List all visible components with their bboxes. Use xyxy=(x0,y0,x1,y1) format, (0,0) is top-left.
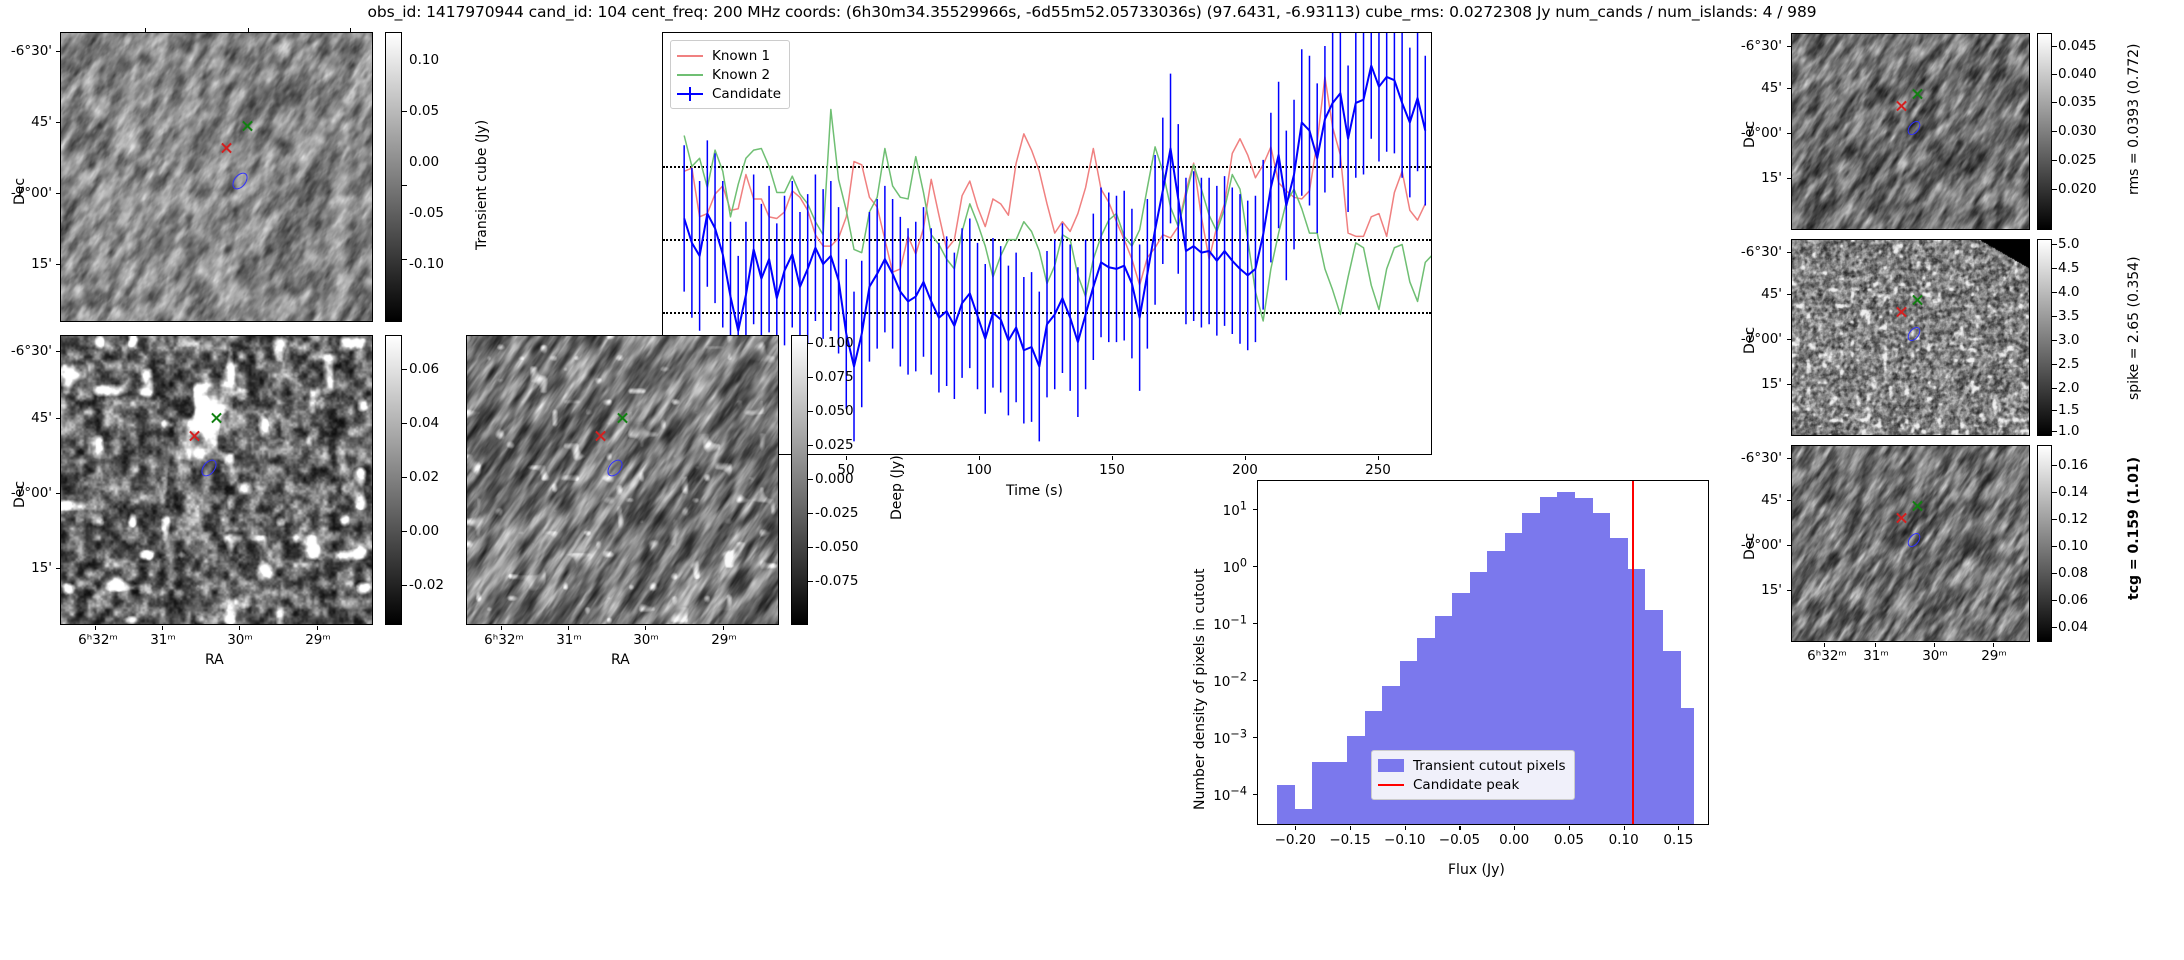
known1-marker xyxy=(221,142,234,155)
transient-cube-colorbar-label: Transient cube (Jy) xyxy=(474,120,490,250)
ra-axis-label: RA xyxy=(205,652,224,668)
cbar-tick-label: 0.08 xyxy=(2058,565,2088,581)
hist-y-tick-label: 101 xyxy=(1195,499,1247,519)
ra-tick-label: 30ᵐ xyxy=(1922,648,1948,664)
legend-row-known1: Known 1 xyxy=(677,46,781,65)
cbar-tick-label: 3.5 xyxy=(2058,308,2079,324)
cbar-tick-label: 0.14 xyxy=(2058,484,2088,500)
time-axis-label: Time (s) xyxy=(1006,483,1063,499)
ra-tick-label: 31ᵐ xyxy=(556,632,582,648)
transient-cube-colorbar xyxy=(385,32,402,322)
flux-tick-label: 0.10 xyxy=(1609,832,1639,848)
dec-axis-label: Dec xyxy=(1742,533,1758,560)
tcg-image-panel[interactable] xyxy=(1791,445,2030,642)
rms-colorbar xyxy=(2037,33,2052,230)
rms-image-panel[interactable] xyxy=(1791,33,2030,230)
rms-colorbar-label: rms = 0.0393 (0.772) xyxy=(2126,43,2142,195)
cbar-tick-label: 0.050 xyxy=(815,403,854,419)
ra-tick-label: 6ʰ32ᵐ xyxy=(484,632,524,648)
known1-marker xyxy=(189,430,202,443)
histogram-bar xyxy=(1627,569,1645,824)
cbar-tick-label: 0.045 xyxy=(2058,38,2097,54)
histogram-legend[interactable]: Transient cutout pixels Candidate peak xyxy=(1371,750,1575,800)
deep-colorbar xyxy=(791,335,808,625)
known2-marker xyxy=(242,120,255,133)
cbar-tick-label: 0.00 xyxy=(409,523,439,539)
cbar-tick-label: -0.025 xyxy=(815,505,859,521)
candidate-peak-swatch xyxy=(1378,784,1404,786)
flux-tick xyxy=(1514,826,1515,831)
known1-marker xyxy=(1896,100,1909,113)
cbar-tick-label: 0.100 xyxy=(815,335,854,351)
dec-tick-label: 15' xyxy=(1728,376,1782,392)
ra-tick-label: 31ᵐ xyxy=(1863,648,1889,664)
tcg-colorbar-label: tcg = 0.159 (1.01) xyxy=(2126,457,2142,600)
cbar-tick-label: 0.075 xyxy=(815,369,854,385)
deep-image-panel[interactable] xyxy=(466,335,779,625)
cbar-tick-label: 0.16 xyxy=(2058,457,2088,473)
cbar-tick-label: 4.0 xyxy=(2058,284,2079,300)
lightcurve-legend[interactable]: Known 1 Known 2 Candidate xyxy=(670,40,790,109)
dec-tick-label: 45' xyxy=(1728,80,1782,96)
dec-tick-label: 15' xyxy=(1728,582,1782,598)
ra-tick-label: 29ᵐ xyxy=(1981,648,2007,664)
cbar-tick-label: 0.000 xyxy=(815,471,854,487)
ra-tick-label: 6ʰ32ᵐ xyxy=(78,632,118,648)
cbar-tick-label: 4.5 xyxy=(2058,260,2079,276)
cbar-tick-label: 0.05 xyxy=(409,103,439,119)
cbar-tick-label: 0.04 xyxy=(2058,619,2088,635)
histogram-bar xyxy=(1662,651,1680,824)
legend-row-known2: Known 2 xyxy=(677,65,781,84)
cbar-tick-label: 0.12 xyxy=(2058,511,2088,527)
deep-colorbar-label: Deep (Jy) xyxy=(889,455,905,520)
flux-tick-label: 0.15 xyxy=(1663,832,1693,848)
flux-tick xyxy=(1405,826,1406,831)
known2-marker xyxy=(1912,500,1925,513)
known2-marker xyxy=(1912,88,1925,101)
dec-axis-label: Dec xyxy=(12,178,28,205)
histogram-bar xyxy=(1277,785,1295,824)
deep-sky-image xyxy=(467,336,779,625)
histogram-bar xyxy=(1330,762,1348,824)
legend-label-candidate-peak: Candidate peak xyxy=(1413,777,1519,793)
ra-tick-label: 30ᵐ xyxy=(633,632,659,648)
legend-row-candidate: Candidate xyxy=(677,84,781,103)
cbar-tick-label: 0.025 xyxy=(2058,152,2097,168)
tcg-colorbar xyxy=(2037,445,2052,642)
cbar-tick-label: 0.04 xyxy=(409,415,439,431)
spike-image-panel[interactable] xyxy=(1791,239,2030,436)
cbar-tick-label: 0.025 xyxy=(815,437,854,453)
dec-tick-label: 15' xyxy=(1728,170,1782,186)
cbar-tick-label: 1.0 xyxy=(2058,423,2079,439)
flux-tick-label: −0.05 xyxy=(1439,832,1480,848)
dec-tick-label: -6°30' xyxy=(0,343,52,359)
gleam-image-panel[interactable] xyxy=(60,335,373,625)
cbar-tick-label: -0.075 xyxy=(815,573,859,589)
cbar-tick-label: 0.035 xyxy=(2058,94,2097,110)
cutout-pixels-swatch xyxy=(1378,759,1404,772)
legend-label-cutout-pixels: Transient cutout pixels xyxy=(1413,758,1566,774)
cbar-tick-label: 0.06 xyxy=(409,361,439,377)
flux-tick-label: −0.20 xyxy=(1275,832,1316,848)
transient-cube-sky-image xyxy=(61,33,373,322)
known1-marker xyxy=(1896,306,1909,319)
flux-tick xyxy=(1459,826,1460,831)
legend-label-known1: Known 1 xyxy=(712,48,770,64)
flux-tick-label: −0.15 xyxy=(1329,832,1370,848)
cbar-tick-label: 0.040 xyxy=(2058,66,2097,82)
dec-tick-label: 15' xyxy=(0,560,52,576)
flux-tick-label: 0.00 xyxy=(1499,832,1529,848)
flux-tick xyxy=(1624,826,1625,831)
spike-colorbar-label: spike = 2.65 (0.354) xyxy=(2126,256,2142,400)
hist-y-axis-label: Number density of pixels in cutout xyxy=(1192,569,1208,811)
transient-cube-image-panel[interactable] xyxy=(60,32,373,322)
legend-label-candidate: Candidate xyxy=(712,86,781,102)
dec-tick-label: 45' xyxy=(0,410,52,426)
flux-tick xyxy=(1295,826,1296,831)
cbar-tick-label: 3.0 xyxy=(2058,332,2079,348)
cbar-tick-label: 5.0 xyxy=(2058,236,2079,252)
histogram-bar xyxy=(1347,736,1365,824)
cbar-tick-label: 2.5 xyxy=(2058,356,2079,372)
histogram-bar xyxy=(1645,610,1663,824)
histogram-bar xyxy=(1680,708,1694,824)
known1-marker xyxy=(1896,512,1909,525)
dec-tick-label: -6°30' xyxy=(1728,38,1782,54)
dec-axis-label: Dec xyxy=(1742,121,1758,148)
flux-axis-label: Flux (Jy) xyxy=(1448,862,1505,878)
time-tick-label: 150 xyxy=(1099,462,1125,478)
histogram-bar xyxy=(1295,809,1313,824)
candidate-errorbar-swatch xyxy=(677,87,703,101)
ra-tick-label: 29ᵐ xyxy=(305,632,331,648)
known2-marker xyxy=(211,412,224,425)
candidate-peak-line xyxy=(1632,481,1635,824)
histogram-bar xyxy=(1575,498,1593,824)
ra-axis-label: RA xyxy=(611,652,630,668)
cbar-tick-label: 0.02 xyxy=(409,469,439,485)
ra-tick-label: 30ᵐ xyxy=(227,632,253,648)
cbar-tick-label: -0.10 xyxy=(409,256,444,272)
cbar-tick-label: 0.10 xyxy=(2058,538,2088,554)
cbar-tick-label: 0.06 xyxy=(2058,592,2088,608)
cbar-tick-label: 0.00 xyxy=(409,154,439,170)
legend-row-candidate-peak: Candidate peak xyxy=(1378,775,1566,794)
dec-axis-label: Dec xyxy=(1742,327,1758,354)
dec-tick-label: 45' xyxy=(1728,492,1782,508)
gleam-sky-image xyxy=(61,336,373,625)
cbar-tick-label: 0.030 xyxy=(2058,123,2097,139)
time-tick-label: 100 xyxy=(966,462,992,478)
histogram-bar xyxy=(1592,513,1610,824)
dec-tick-label: -6°30' xyxy=(0,43,52,59)
dec-tick-label: 45' xyxy=(0,114,52,130)
legend-label-known2: Known 2 xyxy=(712,67,770,83)
cbar-tick-label: 1.5 xyxy=(2058,402,2079,418)
dec-tick-label: -6°30' xyxy=(1728,450,1782,466)
flux-tick-label: 0.05 xyxy=(1554,832,1584,848)
gleam-colorbar xyxy=(385,335,402,625)
cbar-tick-label: -0.050 xyxy=(815,539,859,555)
cbar-tick-label: 0.10 xyxy=(409,52,439,68)
time-tick-label: 250 xyxy=(1365,462,1391,478)
ra-tick-label: 29ᵐ xyxy=(711,632,737,648)
known2-marker xyxy=(1912,294,1925,307)
flux-tick xyxy=(1678,826,1679,831)
known1-line-swatch xyxy=(677,55,703,57)
known2-marker xyxy=(617,412,630,425)
cbar-tick-label: 2.0 xyxy=(2058,380,2079,396)
ra-tick-label: 31ᵐ xyxy=(150,632,176,648)
cbar-tick-label: 0.020 xyxy=(2058,181,2097,197)
legend-row-cutout-pixels: Transient cutout pixels xyxy=(1378,756,1566,775)
known1-marker xyxy=(595,430,608,443)
spike-colorbar xyxy=(2037,239,2052,436)
known2-line-swatch xyxy=(677,74,703,76)
flux-tick xyxy=(1569,826,1570,831)
dec-axis-label: Dec xyxy=(12,481,28,508)
histogram-bar xyxy=(1312,762,1330,824)
dec-tick-label: 15' xyxy=(0,256,52,272)
time-tick-label: 200 xyxy=(1232,462,1258,478)
flux-tick xyxy=(1350,826,1351,831)
flux-tick-label: −0.10 xyxy=(1384,832,1425,848)
ra-tick-label: 6ʰ32ᵐ xyxy=(1807,648,1847,664)
dec-tick-label: 45' xyxy=(1728,286,1782,302)
dec-tick-label: -6°30' xyxy=(1728,244,1782,260)
page-title: obs_id: 1417970944 cand_id: 104 cent_fre… xyxy=(0,3,2184,21)
cbar-tick-label: -0.05 xyxy=(409,205,444,221)
histogram-bar xyxy=(1610,538,1628,824)
cbar-tick-label: -0.02 xyxy=(409,577,444,593)
